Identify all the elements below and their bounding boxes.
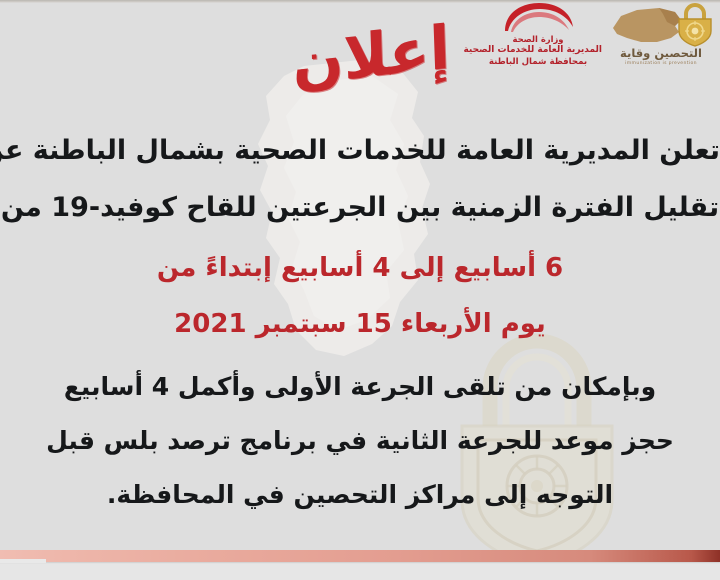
immunization-logo: التحصين وقاية immunization is prevention: [602, 0, 720, 74]
logo-row: التحصين وقاية immunization is prevention…: [470, 0, 720, 78]
ministry-of-health-logo: وزارة الصحة المديرية العامة للخدمات الصح…: [474, 0, 602, 75]
intro-paragraph: تعلن المديرية العامة للخدمات الصحية بشما…: [0, 122, 720, 236]
immunization-logo-english-label: immunization is prevention: [602, 60, 720, 67]
headline-text: إعلان: [291, 18, 451, 95]
poster-headline: إعلان: [276, 10, 466, 102]
bottom-accent-bar: [0, 550, 720, 562]
ministry-logo-line3: بمحافظة شمال الباطنة: [474, 57, 602, 69]
red-crescent-icon: [499, 3, 577, 33]
outro-line-1: وبإمكان من تلقى الجرعة الأولى وأكمل 4 أس…: [0, 360, 720, 414]
intro-line-1: تعلن المديرية العامة للخدمات الصحية بشما…: [0, 122, 720, 179]
immunization-logo-arabic-label: التحصين وقاية: [602, 47, 720, 59]
announcement-poster: التحصين وقاية immunization is prevention…: [0, 0, 720, 580]
dates-line-1: 6 أسابيع إلى 4 أسابيع إبتداءً من: [0, 240, 720, 296]
dates-line-2: يوم الأربعاء 15 سبتمبر 2021: [0, 296, 720, 352]
ministry-logo-line2: المديرية العامة للخدمات الصحية: [474, 45, 602, 57]
outro-line-2: حجز موعد للجرعة الثانية في برنامج ترصد ب…: [0, 414, 720, 468]
outro-line-3: التوجه إلى مراكز التحصين في المحافظة.: [0, 468, 720, 522]
bottom-accent-bar-cap: [0, 559, 46, 563]
outro-paragraph: وبإمكان من تلقى الجرعة الأولى وأكمل 4 أس…: [0, 360, 720, 522]
bottom-margin-strip: [0, 562, 720, 580]
top-divider-rule: [0, 0, 720, 3]
dates-highlight: 6 أسابيع إلى 4 أسابيع إبتداءً من يوم الأ…: [0, 240, 720, 352]
intro-line-2: تقليل الفترة الزمنية بين الجرعتين للقاح …: [0, 179, 720, 236]
immunization-logo-mark: [605, 2, 717, 48]
ministry-logo-line1: وزارة الصحة: [474, 34, 602, 45]
